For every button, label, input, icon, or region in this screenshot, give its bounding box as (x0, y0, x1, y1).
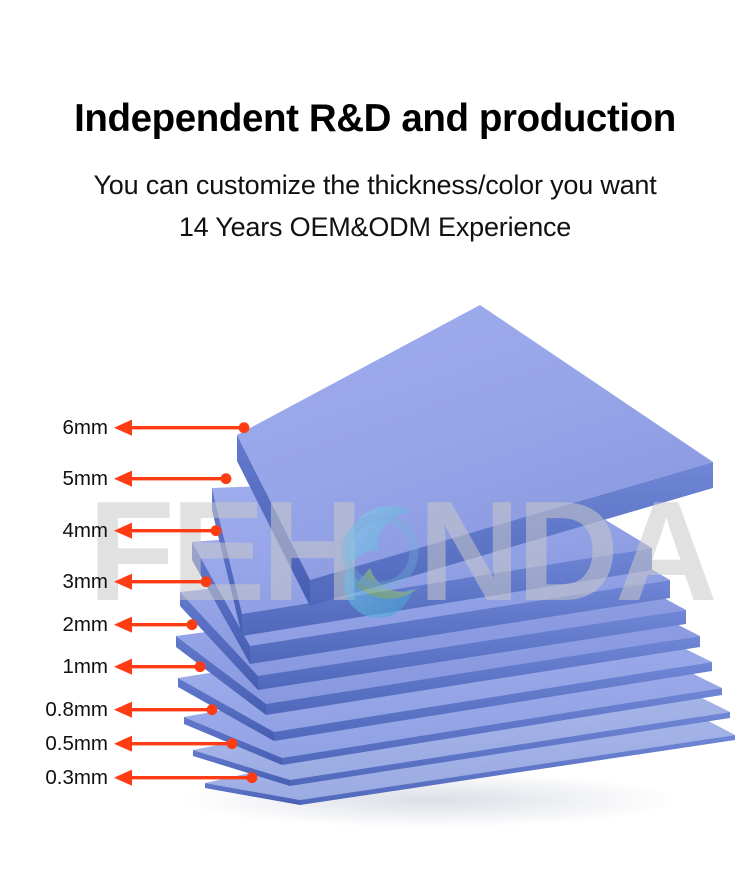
callout-arrow-0-8mm (114, 696, 222, 724)
thickness-label-2mm: 2mm (0, 611, 108, 639)
thickness-label-1mm: 1mm (0, 653, 108, 681)
callout-arrow-3mm (114, 568, 216, 596)
callout-arrow-2mm (114, 611, 202, 639)
product-photo (0, 280, 750, 840)
thermal-pad-stack (0, 280, 750, 840)
thickness-label-0-5mm: 0.5mm (0, 730, 108, 758)
callout-arrow-5mm (114, 465, 236, 493)
page-title: Independent R&D and production (0, 97, 750, 141)
callout-arrow-4mm (114, 517, 226, 545)
subtitle-line-2: 14 Years OEM&ODM Experience (0, 210, 750, 244)
callout-arrow-1mm (114, 653, 210, 681)
thickness-label-0-8mm: 0.8mm (0, 696, 108, 724)
thickness-label-0-3mm: 0.3mm (0, 764, 108, 792)
callout-arrow-6mm (114, 414, 254, 442)
thickness-label-3mm: 3mm (0, 568, 108, 596)
callout-arrow-0-5mm (114, 730, 242, 758)
thickness-label-6mm: 6mm (0, 414, 108, 442)
thickness-label-5mm: 5mm (0, 465, 108, 493)
product-image-canvas: Independent R&D and production You can c… (0, 0, 750, 895)
thickness-label-4mm: 4mm (0, 517, 108, 545)
callout-arrow-0-3mm (114, 764, 262, 792)
subtitle-line-1: You can customize the thickness/color yo… (0, 168, 750, 202)
